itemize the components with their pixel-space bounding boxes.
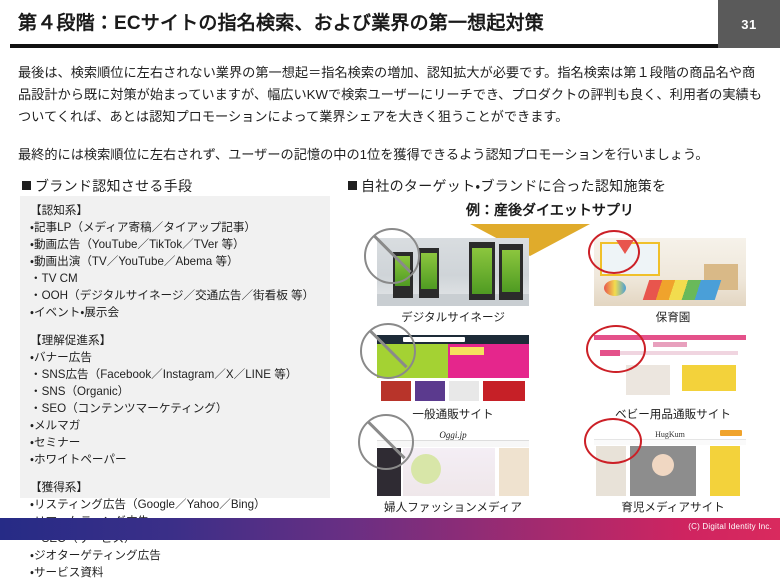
thumbnail-womens-fashion-media: Oggi.jp bbox=[377, 428, 529, 496]
card-caption: 育児メディアサイト bbox=[580, 500, 766, 516]
card-caption: ベビー用品通販サイト bbox=[580, 407, 766, 423]
list-item: 動画出演（TV／YouTube／Abema 等） bbox=[30, 253, 330, 270]
list-item: サービス資料 bbox=[30, 564, 330, 581]
footer-bar: (C) Digital Identity Inc. bbox=[0, 518, 780, 540]
right-section-heading-label: 自社のターゲット・ブランドに合った認知施策を bbox=[361, 178, 666, 194]
list-item: リスティング広告（Google／Yahoo／Bing） bbox=[30, 496, 330, 513]
method-group: 【認知系】 記事LP（メディア寄稿／タイアップ記事） 動画広告（YouTube／… bbox=[30, 202, 330, 321]
page-number-label: 31 bbox=[741, 17, 756, 32]
copyright-label: (C) Digital Identity Inc. bbox=[688, 522, 772, 531]
fashion-media-screenshot: Oggi.jp bbox=[377, 428, 529, 496]
nursery-photo bbox=[594, 238, 746, 306]
fashion-brand-label: Oggi.jp bbox=[439, 430, 466, 440]
awareness-channel-cards: デジタルサイネージ 保育園 bbox=[348, 238, 772, 530]
thumbnail-baby-goods-ec-site bbox=[594, 335, 746, 403]
list-item: OOH（デジタルサイネージ／交通広告／街看板 等） bbox=[30, 287, 330, 304]
childcare-media-screenshot: HugKum bbox=[594, 428, 746, 496]
card-baby-goods-ec-site: ベビー用品通販サイト bbox=[580, 335, 766, 423]
list-item: SEO（コンテンツマーケティング） bbox=[30, 400, 330, 417]
list-item: セミナー bbox=[30, 434, 330, 451]
card-childcare-media-site: HugKum 育児メディアサイト bbox=[580, 428, 766, 516]
baby-ec-screenshot bbox=[594, 335, 746, 403]
kids-brand-label: HugKum bbox=[655, 430, 685, 439]
list-item: バナー広告 bbox=[30, 349, 330, 366]
list-item: ホワイトペーパー bbox=[30, 451, 330, 468]
card-caption: デジタルサイネージ bbox=[360, 310, 546, 326]
right-section-heading: 自社のターゲット・ブランドに合った認知施策を bbox=[348, 176, 666, 196]
list-item: メルマガ bbox=[30, 417, 330, 434]
card-caption: 婦人ファッションメディア bbox=[360, 500, 546, 516]
page-title: 第４段階：ECサイトの指名検索、および業界の第一想起対策 bbox=[18, 8, 544, 35]
lead-paragraph-2: 最終的には検索順位に左右されず、ユーザーの記憶の中の1位を獲得できるよう認知プロ… bbox=[18, 144, 766, 166]
method-list: 記事LP（メディア寄稿／タイアップ記事） 動画広告（YouTube／TikTok… bbox=[30, 219, 330, 321]
brand-awareness-methods-panel: 【認知系】 記事LP（メディア寄稿／タイアップ記事） 動画広告（YouTube／… bbox=[20, 196, 330, 498]
square-bullet-icon bbox=[348, 181, 357, 190]
card-general-ec-site: 一般通販サイト bbox=[360, 335, 546, 423]
method-group: 【理解促進系】 バナー広告 SNS広告（Facebook／Instagram／X… bbox=[30, 332, 330, 468]
page-number-badge: 31 bbox=[718, 0, 780, 48]
lead-paragraph-1: 最後は、検索順位に左右されない業界の第一想起＝指名検索の増加、認知拡大が必要です… bbox=[18, 62, 766, 128]
left-section-heading-label: ブランド認知させる手段 bbox=[35, 178, 192, 194]
card-womens-fashion-media: Oggi.jp 婦人ファッションメディア bbox=[360, 428, 546, 516]
thumbnail-childcare-media-site: HugKum bbox=[594, 428, 746, 496]
slide: 第４段階：ECサイトの指名検索、および業界の第一想起対策 31 最後は、検索順位… bbox=[0, 0, 780, 540]
method-group-title: 【理解促進系】 bbox=[30, 332, 330, 349]
card-caption: 一般通販サイト bbox=[360, 407, 546, 423]
title-divider bbox=[10, 44, 718, 48]
list-item: SNS広告（Facebook／Instagram／X／LINE 等） bbox=[30, 366, 330, 383]
square-bullet-icon bbox=[22, 181, 31, 190]
list-item: TV CM bbox=[30, 270, 330, 287]
card-digital-signage: デジタルサイネージ bbox=[360, 238, 546, 326]
list-item: SNS（Organic） bbox=[30, 383, 330, 400]
list-item: 動画広告（YouTube／TikTok／TVer 等） bbox=[30, 236, 330, 253]
card-nursery-school: 保育園 bbox=[580, 238, 766, 326]
list-item: 記事LP（メディア寄稿／タイアップ記事） bbox=[30, 219, 330, 236]
slide-header: 第４段階：ECサイトの指名検索、および業界の第一想起対策 31 bbox=[0, 0, 780, 48]
method-list: バナー広告 SNS広告（Facebook／Instagram／X／LINE 等）… bbox=[30, 349, 330, 468]
thumbnail-nursery-school bbox=[594, 238, 746, 306]
left-section-heading: ブランド認知させる手段 bbox=[22, 176, 192, 196]
lead-text-block: 最後は、検索順位に左右されない業界の第一想起＝指名検索の増加、認知拡大が必要です… bbox=[18, 62, 766, 166]
method-group-title: 【認知系】 bbox=[30, 202, 330, 219]
list-item: イベント・展示会 bbox=[30, 304, 330, 321]
signage-photo bbox=[377, 238, 529, 306]
ec-site-screenshot bbox=[377, 335, 529, 403]
card-caption: 保育園 bbox=[580, 310, 766, 326]
thumbnail-digital-signage bbox=[377, 238, 529, 306]
list-item: ジオターゲティング広告 bbox=[30, 547, 330, 564]
method-group-title: 【獲得系】 bbox=[30, 479, 330, 496]
example-label: 例：産後ダイエットサプリ bbox=[466, 200, 634, 220]
thumbnail-general-ec-site bbox=[377, 335, 529, 403]
